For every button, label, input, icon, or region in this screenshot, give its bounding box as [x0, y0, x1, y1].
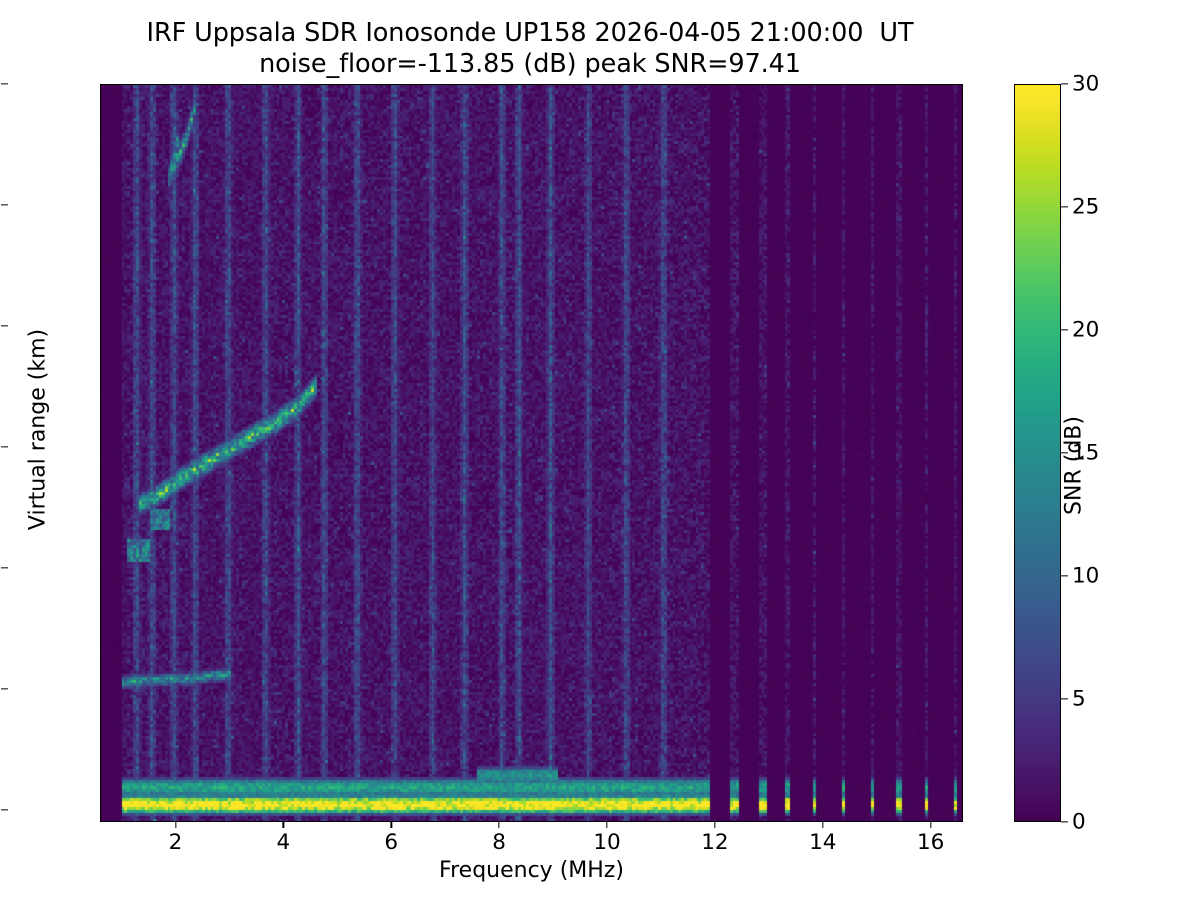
colorbar-tick-label: 5	[1072, 687, 1086, 712]
colorbar-axis: 051015202530	[0, 0, 1200, 900]
colorbar-tick-mark	[1061, 821, 1068, 822]
colorbar-tick-label: 0	[1072, 810, 1086, 835]
colorbar-tick-label: 30	[1072, 72, 1099, 97]
colorbar-tick-mark	[1061, 83, 1068, 84]
ionogram-figure: IRF Uppsala SDR Ionosonde UP158 2026-04-…	[0, 0, 1200, 900]
colorbar-tick-mark	[1061, 698, 1068, 699]
colorbar-label: SNR (dB)	[1062, 266, 1087, 666]
colorbar-tick-label: 25	[1072, 195, 1099, 220]
colorbar-tick-mark	[1061, 206, 1068, 207]
